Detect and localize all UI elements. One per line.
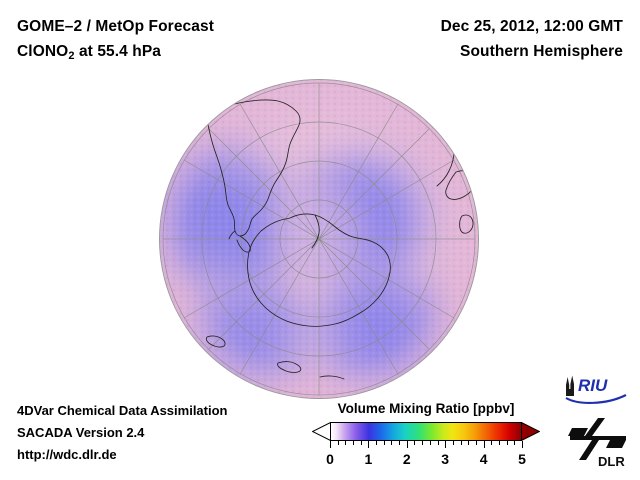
pressure-level: at 55.4 hPa — [75, 43, 162, 60]
species-subscript: 2 — [68, 50, 74, 62]
colorbar-tick-minor — [422, 441, 423, 445]
colorbar-tick-major — [522, 441, 523, 448]
assimilation-label: 4DVar Chemical Data Assimilation — [17, 400, 228, 422]
cathedral-icon — [566, 376, 574, 397]
colorbar-tick-minor — [353, 441, 354, 445]
globe-map — [160, 80, 478, 398]
colorbar-tick-minor — [476, 441, 477, 445]
globe-limb-shading — [160, 80, 478, 398]
colorbar-row: 012345 — [312, 422, 540, 441]
colorbar-tick-labels: 012345 — [330, 450, 522, 468]
globe-disc — [160, 80, 478, 398]
colorbar-tick-minor — [430, 441, 431, 445]
colorbar-tick-major — [484, 441, 485, 448]
colorbar-tick-minor — [391, 441, 392, 445]
colorbar-tick-minor — [361, 441, 362, 445]
colorbar-tick-minor — [499, 441, 500, 445]
header-right: Dec 25, 2012, 12:00 GMT Southern Hemisph… — [293, 14, 623, 64]
timestamp-label: Dec 25, 2012, 12:00 GMT — [293, 14, 623, 39]
dlr-logo: DLR — [568, 416, 630, 468]
colorbar-tick-minor — [468, 441, 469, 445]
colorbar-max-arrow-icon — [521, 422, 540, 441]
colorbar-gradient — [330, 422, 522, 441]
colorbar-tick-minor — [491, 441, 492, 445]
colorbar-tick-minor — [507, 441, 508, 445]
website-link[interactable]: http://wdc.dlr.de — [17, 444, 228, 466]
colorbar-tick-minor — [399, 441, 400, 445]
hemisphere-label: Southern Hemisphere — [293, 39, 623, 64]
colorbar-min-arrow-icon — [312, 422, 331, 441]
colorbar-tick-minor — [453, 441, 454, 445]
colorbar-tick-minor — [376, 441, 377, 445]
colorbar-tick-major — [445, 441, 446, 448]
colorbar-tick-label: 1 — [364, 450, 372, 468]
riu-logo-swoosh — [566, 395, 626, 403]
footer-left: 4DVar Chemical Data Assimilation SACADA … — [17, 400, 228, 466]
colorbar-tick-label: 0 — [326, 450, 334, 468]
colorbar-tick-minor — [514, 441, 515, 445]
colorbar: Volume Mixing Ratio [ppbv] 012345 — [312, 400, 540, 441]
colorbar-tick-minor — [461, 441, 462, 445]
colorbar-title: Volume Mixing Ratio [ppbv] — [312, 400, 540, 417]
colorbar-tick-label: 4 — [480, 450, 488, 468]
colorbar-tick-label: 5 — [518, 450, 526, 468]
colorbar-tick-minor — [345, 441, 346, 445]
colorbar-ticks — [330, 441, 522, 449]
colorbar-tick-minor — [438, 441, 439, 445]
riu-logo-text: RIU — [578, 376, 608, 395]
colorbar-tick-major — [368, 441, 369, 448]
colorbar-tick-major — [330, 441, 331, 448]
colorbar-tick-minor — [384, 441, 385, 445]
riu-logo: RIU — [562, 374, 628, 404]
species-name: ClONO — [17, 43, 68, 60]
colorbar-tick-minor — [338, 441, 339, 445]
colorbar-tick-minor — [414, 441, 415, 445]
colorbar-tick-label: 3 — [441, 450, 449, 468]
colorbar-tick-label: 2 — [403, 450, 411, 468]
colorbar-tick-major — [407, 441, 408, 448]
dlr-logo-text: DLR — [598, 454, 625, 468]
version-label: SACADA Version 2.4 — [17, 422, 228, 444]
